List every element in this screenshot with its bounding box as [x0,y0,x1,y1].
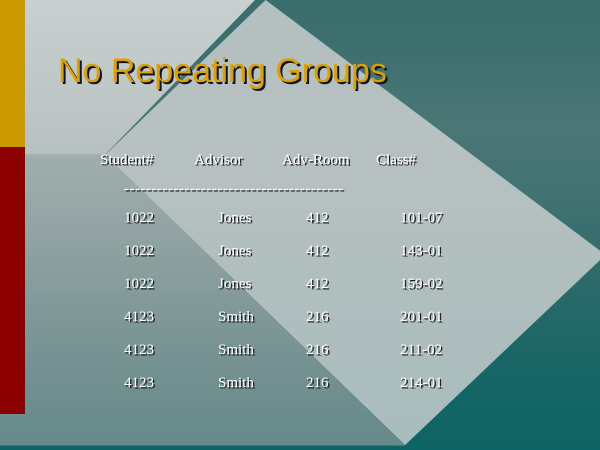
cell-student: 4123 [124,342,202,359]
cell-class: 143-01 [400,243,492,260]
cell-adv-room: 216 [306,342,384,359]
table-row: 4123 Smith 216 214-01 [100,375,520,392]
cell-student: 4123 [124,375,202,392]
table-divider-line: ---------------------------------------- [100,181,520,198]
data-table: Student# Advisor Adv-Room Class# -------… [100,152,520,408]
presentation-slide: No Repeating Groups Student# Advisor Adv… [0,0,600,450]
table-header-row: Student# Advisor Adv-Room Class# [100,152,520,169]
cell-student: 1022 [124,276,202,293]
cell-adv-room: 412 [306,276,384,293]
cell-student: 1022 [124,243,202,260]
cell-advisor: Smith [218,375,290,392]
cell-advisor: Smith [218,309,290,326]
column-header-adv-room: Adv-Room [282,152,360,169]
table-row: 1022 Jones 412 159-02 [100,276,520,293]
table-row: 4123 Smith 216 201-01 [100,309,520,326]
cell-adv-room: 216 [306,375,384,392]
cell-adv-room: 412 [306,210,384,227]
left-accent-bar-gold [0,0,25,147]
cell-adv-room: 216 [306,309,384,326]
left-accent-bar-red [0,147,25,414]
cell-adv-room: 412 [306,243,384,260]
cell-advisor: Jones [218,243,290,260]
cell-advisor: Jones [218,210,290,227]
cell-class: 201-01 [400,309,492,326]
cell-student: 4123 [124,309,202,326]
column-header-student: Student# [100,152,178,169]
cell-advisor: Jones [218,276,290,293]
table-row: 1022 Jones 412 143-01 [100,243,520,260]
cell-advisor: Smith [218,342,290,359]
slide-title: No Repeating Groups [58,52,387,91]
cell-class: 159-02 [400,276,492,293]
column-header-class: Class# [376,152,468,169]
cell-class: 214-01 [400,375,492,392]
table-body: 1022 Jones 412 101-07 1022 Jones 412 143… [100,210,520,392]
cell-class: 101-07 [400,210,492,227]
column-header-advisor: Advisor [194,152,266,169]
cell-class: 211-02 [400,342,492,359]
cell-student: 1022 [124,210,202,227]
table-row: 1022 Jones 412 101-07 [100,210,520,227]
table-row: 4123 Smith 216 211-02 [100,342,520,359]
